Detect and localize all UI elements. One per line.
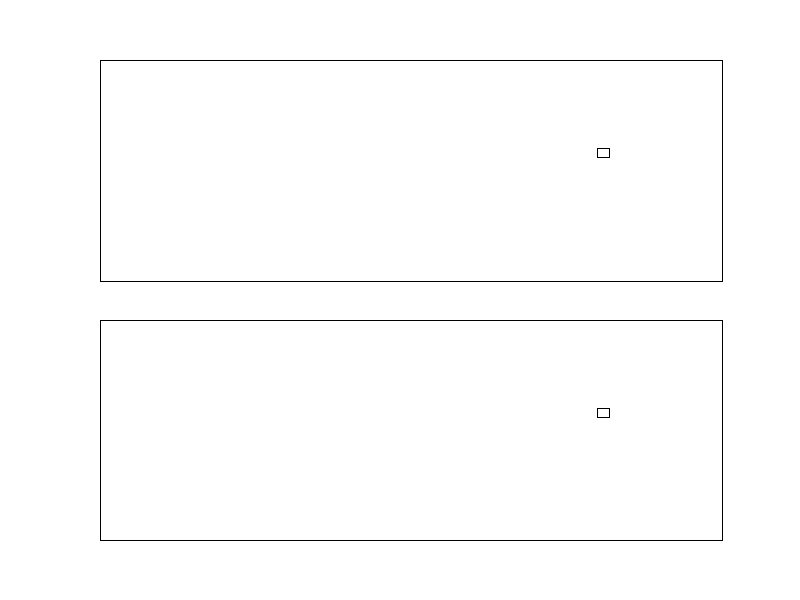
y-axis-ticks-top [48, 60, 94, 282]
plot-area-top [101, 61, 723, 282]
legend-top[interactable] [597, 148, 610, 158]
figure-canvas [0, 0, 800, 600]
y-axis-ticks-bottom [48, 320, 94, 541]
plot-panel-top[interactable] [100, 60, 723, 282]
x-axis-ticks-bottom [100, 544, 723, 564]
x-axis-ticks-top [100, 285, 723, 305]
plot-area-bottom [101, 321, 723, 541]
legend-bottom[interactable] [597, 408, 610, 418]
plot-panel-bottom[interactable] [100, 320, 723, 541]
